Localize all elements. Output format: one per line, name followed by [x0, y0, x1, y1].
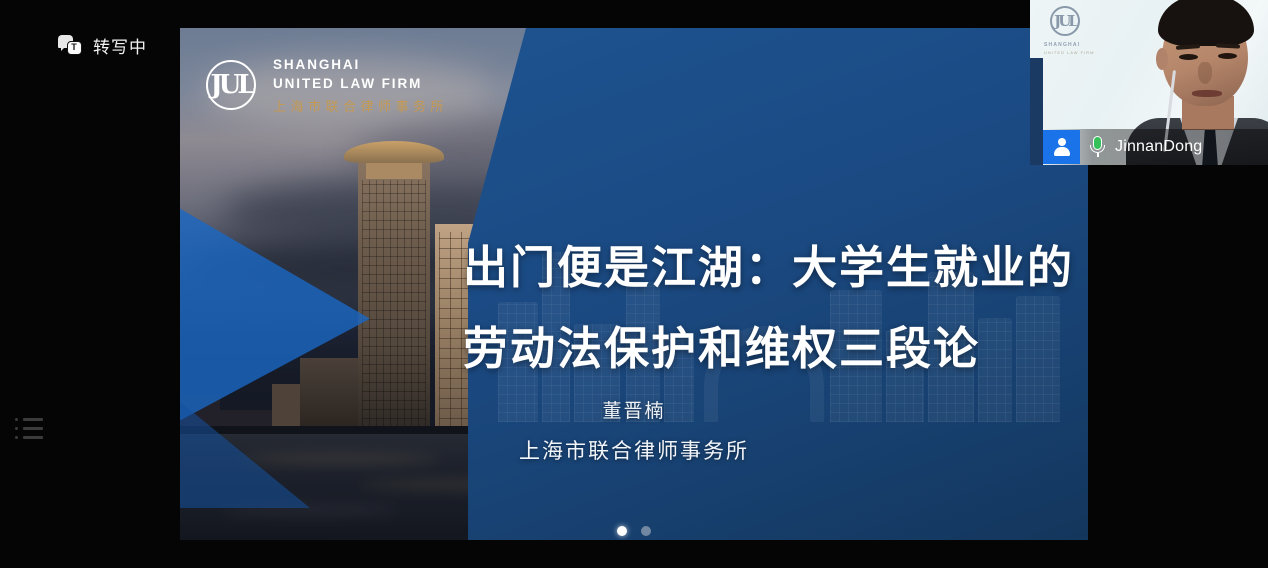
participant-video-tile[interactable]: JUL SHANGHAI UNITED LAW FIRM: [1030, 0, 1268, 165]
microphone-icon[interactable]: [1089, 136, 1106, 158]
video-blue-strip: [1030, 58, 1043, 165]
pagination-dot-1[interactable]: [617, 526, 627, 536]
slide-landmark-tower: [358, 158, 430, 428]
wall-logo-line-1: SHANGHAI: [1044, 42, 1116, 48]
shared-slide[interactable]: JUL SHANGHAI UNITED LAW FIRM 上海市联合律师事务所 …: [180, 28, 1088, 540]
video-tile-footer: JinnanDong: [1043, 129, 1268, 165]
logo-line-2: UNITED LAW FIRM: [273, 74, 448, 93]
translate-icon: T: [58, 35, 82, 57]
slide-pagination[interactable]: [180, 526, 1088, 536]
list-icon[interactable]: [10, 405, 50, 451]
logo-chinese-name: 上海市联合律师事务所: [273, 96, 448, 115]
transcribing-status: T 转写中: [58, 33, 147, 58]
wall-logo-line-2: UNITED LAW FIRM: [1044, 50, 1116, 55]
participant-name: JinnanDong: [1115, 138, 1202, 156]
slide-logo: JUL SHANGHAI UNITED LAW FIRM 上海市联合律师事务所: [206, 55, 448, 115]
person-icon[interactable]: [1043, 130, 1080, 164]
meeting-screen: T 转写中: [0, 0, 1268, 568]
law-firm-logo-icon: JUL: [206, 60, 256, 110]
wall-logo-icon: JUL SHANGHAI UNITED LAW FIRM: [1044, 4, 1116, 64]
transcribing-status-label: 转写中: [93, 33, 147, 58]
slide-blue-panel: [468, 28, 1088, 540]
pagination-dot-2[interactable]: [641, 526, 651, 536]
logo-line-1: SHANGHAI: [273, 55, 448, 74]
